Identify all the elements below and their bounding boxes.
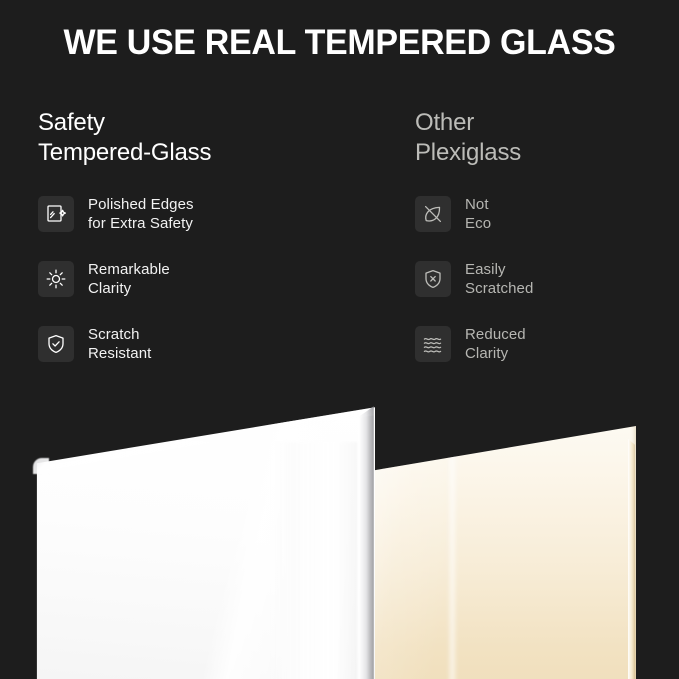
feature-label-line1: Reduced: [465, 325, 526, 344]
feature-label-line1: Remarkable: [88, 260, 170, 279]
feature-label-line1: Polished Edges: [88, 195, 194, 214]
tempered-glass-panel: [30, 404, 375, 679]
feature-label-line2: for Extra Safety: [88, 214, 194, 233]
feature-label-line2: Resistant: [88, 344, 151, 363]
tempered-glass-panel-edge: [356, 406, 374, 679]
feature-label-line1: Easily: [465, 260, 533, 279]
feature-label-line2: Eco: [465, 214, 491, 233]
feature-label: Not Eco: [465, 195, 491, 233]
leaf-crossed-out-icon: [415, 196, 451, 232]
product-photo: [0, 398, 679, 679]
column-heading-left: Safety Tempered-Glass: [38, 108, 368, 168]
plexiglass-panel-edge: [628, 436, 635, 679]
wavy-distortion-icon: [415, 326, 451, 362]
comparison-column-plexiglass: Other Plexiglass Not Eco: [415, 108, 675, 389]
feature-label: Scratch Resistant: [88, 325, 151, 363]
feature-row: Polished Edges for Extra Safety: [38, 194, 368, 234]
column-heading-right-line1: Other: [415, 108, 675, 138]
feature-label-line2: Clarity: [88, 279, 170, 298]
feature-label-line1: Scratch: [88, 325, 151, 344]
feature-row: Remarkable Clarity: [38, 259, 368, 299]
column-heading-left-line1: Safety: [38, 108, 368, 138]
feature-row: Scratch Resistant: [38, 324, 368, 364]
page-title: WE USE REAL TEMPERED GLASS: [10, 22, 669, 64]
feature-label-line2: Scratched: [465, 279, 533, 298]
plexiglass-panel: [368, 426, 636, 679]
sun-brightness-icon: [38, 261, 74, 297]
column-heading-right-line2: Plexiglass: [415, 138, 675, 168]
feature-row: Reduced Clarity: [415, 324, 675, 364]
feature-label-line2: Clarity: [465, 344, 526, 363]
column-heading-left-line2: Tempered-Glass: [38, 138, 368, 168]
feature-row: Easily Scratched: [415, 259, 675, 299]
shield-check-icon: [38, 326, 74, 362]
tempered-glass-panel-corner: [33, 458, 49, 474]
feature-label: Easily Scratched: [465, 260, 533, 298]
infographic-root: WE USE REAL TEMPERED GLASS Safety Temper…: [0, 0, 679, 679]
polished-edge-sparkle-icon: [38, 196, 74, 232]
feature-label: Polished Edges for Extra Safety: [88, 195, 194, 233]
column-heading-right: Other Plexiglass: [415, 108, 675, 168]
feature-label: Remarkable Clarity: [88, 260, 170, 298]
feature-row: Not Eco: [415, 194, 675, 234]
comparison-column-tempered-glass: Safety Tempered-Glass Polished Edges for…: [38, 108, 368, 389]
feature-label: Reduced Clarity: [465, 325, 526, 363]
shield-x-icon: [415, 261, 451, 297]
feature-label-line1: Not: [465, 195, 491, 214]
